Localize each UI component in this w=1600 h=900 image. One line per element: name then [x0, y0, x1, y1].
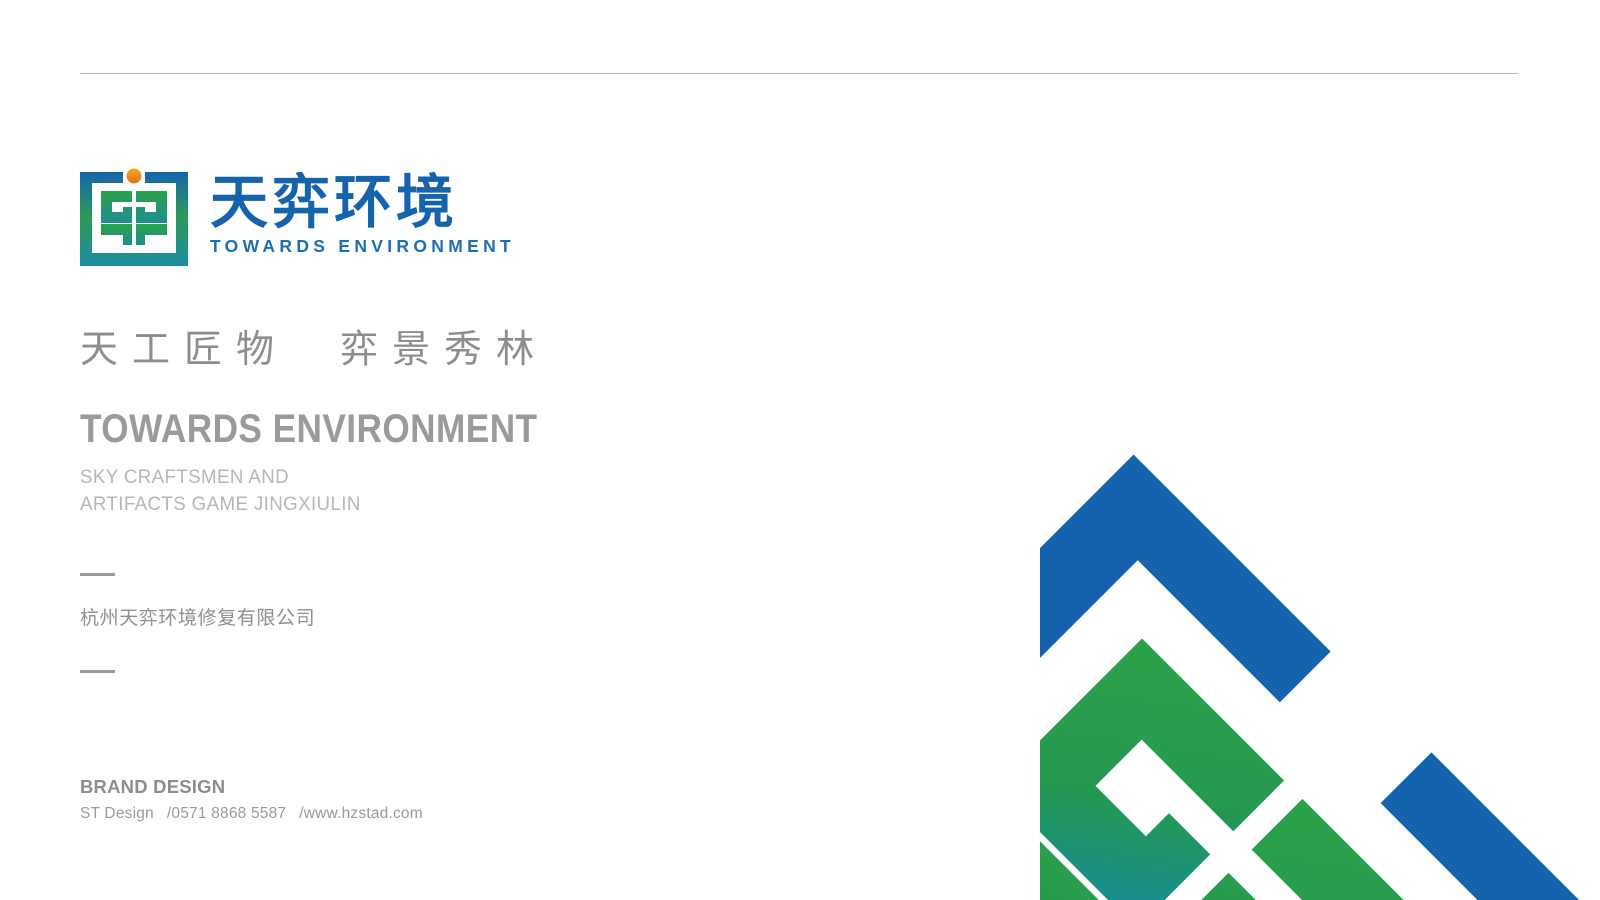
rotated-logo-mark-icon [1040, 436, 1600, 900]
footer-website: /www.hzstad.com [299, 805, 423, 822]
logo-name-en: TOWARDS ENVIRONMENT [210, 238, 515, 256]
footer-phone: /0571 8868 5587 [167, 805, 286, 822]
slogan-cn: 天工匠物 弈景秀林 [80, 328, 548, 372]
top-divider-rule [80, 73, 1518, 74]
logo-name-cn-text: 天弈环境 [210, 172, 458, 234]
corner-decoration [1040, 340, 1600, 900]
brand-presentation-page: 天弈环境 TOWARDS ENVIRONMENT 天工匠物 弈景秀林 TOWAR… [0, 0, 1600, 900]
dash-rule-below-company [80, 670, 115, 673]
subtitle-en: SKY CRAFTSMEN AND ARTIFACTS GAME JINGXIU… [80, 464, 361, 518]
logo-mark-icon [80, 168, 188, 266]
footer-contact-line: ST Design/0571 8868 5587/www.hzstad.com [80, 805, 423, 824]
footer-studio: ST Design [80, 805, 154, 822]
subtitle-line-2: ARTIFACTS GAME JINGXIULIN [80, 491, 361, 518]
subtitle-line-1: SKY CRAFTSMEN AND [80, 464, 361, 491]
company-name-cn: 杭州天弈环境修复有限公司 [80, 607, 315, 630]
headline-en: TOWARDS ENVIRONMENT [80, 407, 538, 451]
dash-rule-above-company [80, 573, 115, 576]
logo-name-cn: 天弈环境 [210, 172, 515, 234]
logo-wordmark: 天弈环境 TOWARDS ENVIRONMENT [210, 168, 515, 256]
brand-logo-lockup: 天弈环境 TOWARDS ENVIRONMENT [80, 168, 515, 266]
footer-title: BRAND DESIGN [80, 775, 423, 798]
footer-block: BRAND DESIGN ST Design/0571 8868 5587/ww… [80, 775, 423, 824]
